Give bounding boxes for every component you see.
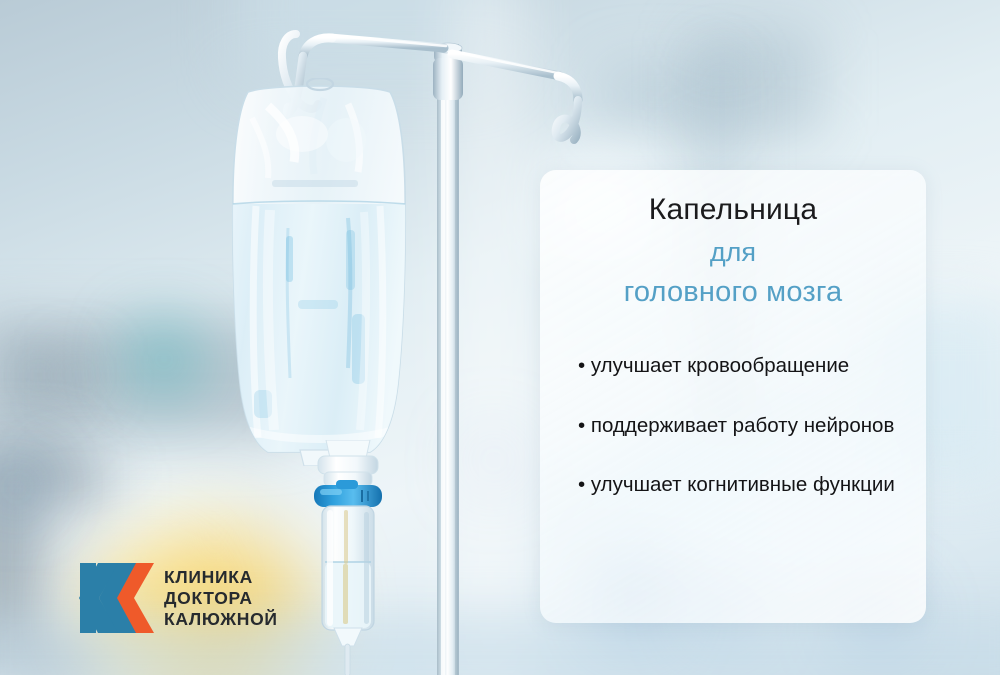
logo-line-2: ДОКТОРА [164, 588, 278, 608]
logo-line-1: КЛИНИКА [164, 567, 278, 587]
benefit-item: • поддерживает работу нейронов [562, 411, 906, 440]
benefits-list: • улучшает кровообращение • поддерживает… [556, 351, 910, 498]
card-subtitle-line2: головного мозга [556, 275, 910, 309]
info-card: Капельница для головного мозга • улучшае… [540, 170, 926, 623]
benefit-item: • улучшает кровообращение [562, 351, 906, 380]
benefit-item: • улучшает когнитивные функции [562, 470, 906, 499]
logo-line-3: КАЛЮЖНОЙ [164, 609, 278, 629]
clinic-logo: КЛИНИКА ДОКТОРА КАЛЮЖНОЙ [78, 552, 314, 644]
promo-image-canvas: Капельница для головного мозга • улучшае… [0, 0, 1000, 675]
kk-monogram-icon [78, 559, 154, 637]
card-title: Капельница [556, 192, 910, 227]
logo-wordmark: КЛИНИКА ДОКТОРА КАЛЮЖНОЙ [164, 567, 278, 630]
card-subtitle-line1: для [556, 237, 910, 269]
